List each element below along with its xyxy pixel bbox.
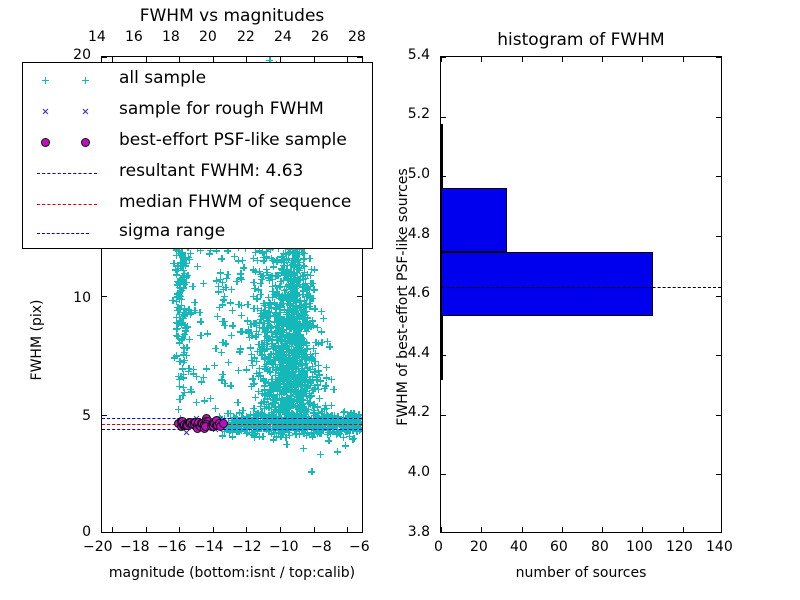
tick-bottom-4: −12	[232, 539, 262, 555]
data-point	[266, 386, 273, 393]
data-point	[306, 320, 313, 327]
data-point	[297, 297, 304, 304]
data-point	[280, 401, 287, 408]
data-point	[307, 377, 314, 384]
data-point	[200, 374, 207, 381]
data-point	[289, 294, 296, 301]
data-point	[296, 353, 303, 360]
data-point	[265, 401, 272, 408]
data-point	[280, 402, 287, 409]
data-point	[284, 405, 291, 412]
dashed-blue-line-icon	[27, 158, 115, 189]
data-point	[302, 360, 309, 367]
axis-tick	[522, 57, 523, 62]
data-point	[283, 283, 290, 290]
data-point	[318, 339, 325, 346]
data-point	[283, 311, 290, 318]
data-point	[273, 407, 280, 414]
data-point	[229, 433, 236, 440]
data-point	[174, 325, 181, 332]
data-point	[250, 266, 257, 273]
data-point	[284, 307, 291, 314]
data-point	[263, 403, 270, 410]
tick-y-10: 10	[73, 290, 91, 306]
data-point	[185, 368, 192, 375]
data-point	[349, 427, 356, 434]
data-point	[182, 328, 189, 335]
right-plot-ylabel: FWHM of best-effort PSF-like sources	[395, 127, 411, 467]
data-point	[247, 321, 254, 328]
data-point	[283, 401, 290, 408]
data-point	[287, 395, 294, 402]
data-point	[273, 379, 280, 386]
data-point	[292, 374, 299, 381]
tick-top-2: 18	[162, 29, 180, 45]
data-point	[295, 388, 302, 395]
data-point	[312, 350, 319, 357]
data-point	[266, 304, 273, 311]
data-point	[278, 331, 285, 338]
data-point	[178, 321, 185, 328]
data-point	[350, 435, 357, 442]
data-point	[283, 309, 290, 316]
data-point	[290, 314, 297, 321]
data-point	[274, 387, 281, 394]
data-point	[261, 391, 268, 398]
data-point	[301, 378, 308, 385]
data-point	[269, 333, 276, 340]
data-point	[211, 362, 218, 369]
data-point	[277, 381, 284, 388]
data-point	[293, 254, 300, 261]
data-point	[300, 315, 307, 322]
data-point	[285, 321, 292, 328]
data-point	[282, 388, 289, 395]
data-point	[286, 416, 293, 423]
data-point	[297, 413, 304, 420]
data-point	[280, 370, 287, 377]
data-point	[321, 424, 328, 431]
data-point	[255, 331, 262, 338]
data-point	[176, 311, 183, 318]
data-point	[288, 259, 295, 266]
data-point	[334, 448, 341, 455]
data-point	[300, 312, 307, 319]
data-point	[295, 251, 302, 258]
data-point	[177, 373, 184, 380]
data-point	[271, 384, 278, 391]
right-plot-axes	[440, 56, 722, 533]
data-point	[283, 286, 290, 293]
data-point	[295, 365, 302, 372]
data-point	[288, 314, 295, 321]
data-point	[251, 285, 258, 292]
data-point	[292, 353, 299, 360]
data-point	[281, 334, 288, 341]
data-point	[231, 253, 238, 260]
data-point	[287, 268, 294, 275]
data-point	[290, 300, 297, 307]
data-point	[272, 361, 279, 368]
data-point	[292, 320, 299, 327]
data-point	[277, 337, 284, 344]
data-point	[293, 378, 300, 385]
data-point	[280, 397, 287, 404]
data-point	[266, 392, 273, 399]
data-point	[267, 324, 274, 331]
data-point	[289, 322, 296, 329]
data-point	[274, 383, 281, 390]
data-point	[224, 271, 231, 278]
data-point	[186, 336, 193, 343]
data-point	[300, 272, 307, 279]
data-point	[260, 377, 267, 384]
data-point	[314, 324, 321, 331]
data-point	[306, 399, 313, 406]
data-point	[292, 275, 299, 282]
data-point	[268, 391, 275, 398]
axis-tick	[441, 117, 446, 118]
data-point	[228, 332, 235, 339]
data-point	[269, 276, 276, 283]
data-point	[175, 248, 182, 255]
data-point	[300, 389, 307, 396]
data-point	[301, 355, 308, 362]
data-point	[303, 328, 310, 335]
data-point	[212, 345, 219, 352]
data-point	[269, 343, 276, 350]
data-point	[275, 370, 282, 377]
axis-tick	[562, 527, 563, 532]
data-point	[278, 254, 285, 261]
data-point	[325, 437, 332, 444]
data-point	[300, 411, 307, 418]
data-point	[292, 333, 299, 340]
data-point	[280, 259, 287, 266]
data-point	[253, 358, 260, 365]
data-point	[246, 334, 253, 341]
data-point	[182, 262, 189, 269]
data-point	[217, 415, 224, 422]
data-point	[291, 354, 298, 361]
data-point	[201, 397, 208, 404]
data-point	[292, 388, 299, 395]
data-point	[241, 416, 248, 423]
data-point	[274, 391, 281, 398]
data-point	[297, 331, 304, 338]
data-point	[302, 282, 309, 289]
data-point	[220, 296, 227, 303]
data-point	[257, 271, 264, 278]
data-point	[283, 377, 290, 384]
data-point	[282, 269, 289, 276]
data-point	[185, 418, 194, 427]
data-point	[289, 410, 296, 417]
data-point	[239, 407, 246, 414]
data-point	[182, 327, 189, 334]
data-point	[291, 278, 298, 285]
data-point	[333, 431, 340, 438]
data-point	[283, 266, 290, 273]
data-point	[207, 395, 214, 402]
data-point	[273, 329, 280, 336]
data-point	[301, 308, 308, 315]
data-point	[266, 299, 273, 306]
data-point	[294, 323, 301, 330]
data-point	[292, 255, 299, 262]
data-point	[248, 431, 255, 438]
data-point	[289, 415, 296, 422]
data-point	[294, 305, 301, 312]
data-point	[283, 403, 290, 410]
data-point	[282, 356, 289, 363]
data-point	[222, 340, 229, 347]
data-point	[299, 249, 306, 256]
data-point	[278, 257, 285, 264]
data-point	[273, 350, 280, 357]
data-point	[294, 274, 301, 281]
data-point	[267, 312, 274, 319]
data-point	[283, 410, 290, 417]
legend-item-sigma-range: sigma range	[23, 218, 372, 249]
tick-hy-4.2: 4.2	[408, 404, 430, 420]
data-point	[323, 364, 330, 371]
data-point	[279, 345, 286, 352]
data-point	[292, 335, 299, 342]
data-point	[256, 365, 263, 372]
data-point	[334, 429, 341, 436]
data-point	[265, 335, 272, 342]
data-point	[302, 324, 309, 331]
plus-marker-icon	[27, 65, 115, 96]
data-point	[311, 266, 318, 273]
data-point	[284, 335, 291, 342]
data-point	[268, 340, 275, 347]
data-point	[267, 358, 274, 365]
data-point	[258, 400, 265, 407]
data-point	[287, 337, 294, 344]
data-point	[279, 404, 286, 411]
data-point	[263, 269, 270, 276]
legend-item-all-sample: all sample	[23, 65, 372, 96]
data-point	[183, 260, 190, 267]
data-point	[280, 383, 287, 390]
data-point	[291, 270, 298, 277]
data-point	[285, 395, 292, 402]
data-point	[289, 259, 296, 266]
data-point	[296, 267, 303, 274]
data-point	[183, 344, 190, 351]
data-point	[248, 383, 255, 390]
data-point	[277, 407, 284, 414]
data-point	[347, 410, 354, 417]
data-point	[295, 363, 302, 370]
data-point	[274, 350, 281, 357]
data-point	[277, 433, 284, 440]
axis-tick	[102, 415, 107, 416]
data-point	[284, 317, 291, 324]
data-point	[293, 281, 300, 288]
data-point	[276, 354, 283, 361]
data-point	[308, 266, 315, 273]
data-point	[316, 430, 323, 437]
data-point	[275, 272, 282, 279]
data-point	[274, 327, 281, 334]
data-point	[289, 288, 296, 295]
data-point	[286, 301, 293, 308]
data-point	[180, 255, 187, 262]
data-point	[175, 406, 182, 413]
data-point	[310, 345, 317, 352]
data-point	[281, 402, 288, 409]
data-point	[297, 387, 304, 394]
data-point	[286, 313, 293, 320]
data-point	[281, 370, 288, 377]
data-point	[272, 395, 279, 402]
data-point	[296, 316, 303, 323]
tick-top-6: 26	[311, 29, 329, 45]
data-point	[295, 310, 302, 317]
data-point	[305, 325, 312, 332]
axis-tick	[716, 57, 721, 58]
data-point	[250, 293, 257, 300]
data-point	[304, 384, 311, 391]
axis-tick	[683, 527, 684, 532]
data-point	[293, 339, 300, 346]
data-point	[181, 281, 188, 288]
data-point	[346, 433, 353, 440]
data-point	[308, 416, 315, 423]
legend-label: median FHWM of sequence	[119, 192, 351, 212]
histogram-resultant-fwhm-line	[441, 287, 721, 288]
data-point	[290, 262, 297, 269]
data-point	[276, 283, 283, 290]
median-fwhm-line	[102, 424, 362, 425]
data-point	[286, 325, 293, 332]
data-point	[278, 344, 285, 351]
data-point	[295, 310, 302, 317]
data-point	[258, 276, 265, 283]
data-point	[278, 396, 285, 403]
data-point	[302, 360, 309, 367]
data-point	[176, 383, 183, 390]
data-point	[290, 357, 297, 364]
data-point	[179, 392, 186, 399]
data-point	[266, 277, 273, 284]
data-point	[309, 295, 316, 302]
data-point	[273, 433, 280, 440]
data-point	[296, 325, 303, 332]
data-point	[288, 288, 295, 295]
data-point	[306, 303, 313, 310]
data-point	[318, 410, 325, 417]
data-point	[326, 343, 333, 350]
data-point	[294, 314, 301, 321]
data-point	[268, 328, 275, 335]
data-point	[297, 401, 304, 408]
data-point	[282, 318, 289, 325]
data-point	[301, 386, 308, 393]
data-point	[292, 304, 299, 311]
data-point	[292, 427, 299, 434]
data-point	[299, 283, 306, 290]
axis-tick	[683, 57, 684, 62]
data-point	[265, 294, 272, 301]
data-point	[307, 366, 314, 373]
data-point	[272, 309, 279, 316]
data-point	[333, 429, 340, 436]
data-point	[189, 283, 196, 290]
data-point	[284, 416, 291, 423]
data-point	[276, 350, 283, 357]
data-point	[300, 341, 307, 348]
data-point	[294, 279, 301, 286]
data-point	[283, 363, 290, 370]
data-point	[278, 253, 285, 260]
data-point	[288, 371, 295, 378]
data-point	[278, 357, 285, 364]
data-point	[279, 362, 286, 369]
data-point	[277, 278, 284, 285]
data-point	[309, 280, 316, 287]
data-point	[313, 427, 320, 434]
data-point	[291, 379, 298, 386]
data-point	[254, 410, 261, 417]
data-point	[280, 380, 287, 387]
data-point	[291, 371, 298, 378]
data-point	[276, 319, 283, 326]
data-point	[276, 408, 283, 415]
data-point	[278, 328, 285, 335]
data-point	[263, 361, 270, 368]
data-point	[173, 271, 180, 278]
data-point	[303, 374, 310, 381]
data-point	[179, 333, 186, 340]
data-point	[299, 291, 306, 298]
data-point	[300, 350, 307, 357]
data-point	[291, 264, 298, 271]
data-point	[253, 322, 260, 329]
axis-tick	[716, 474, 721, 475]
data-point	[273, 289, 280, 296]
data-point	[298, 416, 305, 423]
data-point	[181, 312, 188, 319]
data-point	[266, 368, 273, 375]
data-point	[299, 376, 306, 383]
data-point	[227, 382, 234, 389]
data-point	[196, 309, 203, 316]
data-point	[250, 431, 257, 438]
tick-hy-4.0: 4.0	[408, 464, 430, 480]
data-point	[177, 250, 184, 257]
data-point	[250, 405, 257, 412]
data-point	[268, 376, 275, 383]
data-point	[303, 408, 310, 415]
data-point	[264, 367, 271, 374]
data-point	[290, 333, 297, 340]
data-point	[283, 370, 290, 377]
axis-tick	[481, 57, 482, 62]
data-point	[345, 427, 352, 434]
data-point	[298, 367, 305, 374]
data-point	[252, 320, 259, 327]
data-point	[306, 255, 313, 262]
data-point	[289, 368, 296, 375]
data-point	[293, 314, 300, 321]
data-point	[299, 349, 306, 356]
data-point	[260, 254, 267, 261]
data-point	[200, 280, 207, 287]
